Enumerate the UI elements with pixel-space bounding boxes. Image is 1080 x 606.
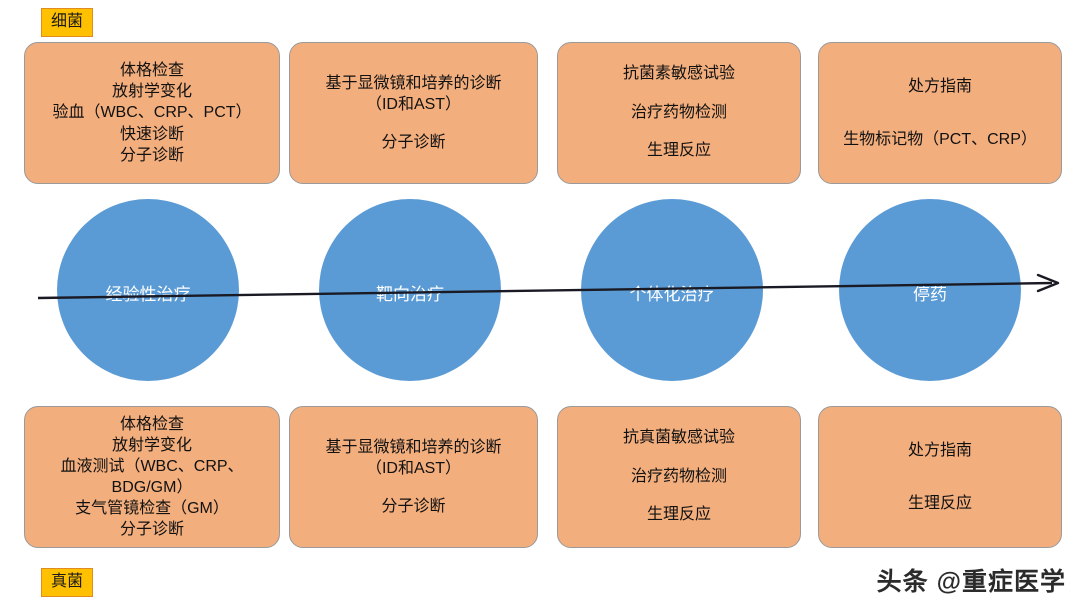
- card-line: 分子诊断: [120, 145, 184, 166]
- stage-circle-3: 个体化治疗: [581, 199, 763, 381]
- card-line: 基于显微镜和培养的诊断: [325, 437, 501, 458]
- card-line: 生理反应: [908, 493, 972, 514]
- stage-label: 经验性治疗: [106, 280, 191, 305]
- fungus-card-4: 处方指南 生理反应: [818, 406, 1062, 548]
- card-line: 体格检查: [120, 60, 184, 81]
- card-line: 验血（WBC、CRP、PCT）: [52, 102, 251, 123]
- stage-circle-4: 停药: [839, 199, 1021, 381]
- watermark: 头条 @重症医学: [877, 562, 1066, 598]
- card-line: 生物标记物（PCT、CRP）: [843, 129, 1037, 150]
- bacteria-card-1: 体格检查 放射学变化 验血（WBC、CRP、PCT） 快速诊断 分子诊断: [24, 42, 280, 184]
- fungus-card-3: 抗真菌敏感试验 治疗药物检测 生理反应: [557, 406, 801, 548]
- card-line: （ID和AST）: [366, 94, 461, 115]
- fungus-card-2: 基于显微镜和培养的诊断 （ID和AST） 分子诊断: [289, 406, 538, 548]
- stage-label: 停药: [913, 280, 947, 305]
- stage-circle-2: 靶向治疗: [319, 199, 501, 381]
- card-line: 治疗药物检测: [631, 103, 727, 124]
- card-line: 处方指南: [908, 76, 972, 97]
- card-line: 放射学变化: [112, 435, 192, 456]
- card-line: 治疗药物检测: [631, 467, 727, 488]
- card-line: 分子诊断: [120, 519, 184, 540]
- stage-circle-1: 经验性治疗: [57, 199, 239, 381]
- category-tag-bacteria: 细菌: [41, 8, 93, 37]
- bacteria-card-2: 基于显微镜和培养的诊断 （ID和AST） 分子诊断: [289, 42, 538, 184]
- card-line: 分子诊断: [381, 496, 445, 517]
- arrow-head-icon: [1038, 275, 1058, 291]
- card-line: 基于显微镜和培养的诊断: [325, 73, 501, 94]
- card-line: 抗菌素敏感试验: [623, 64, 735, 85]
- card-line: 血液测试（WBC、CRP、: [60, 456, 243, 477]
- card-line: 生理反应: [647, 505, 711, 526]
- card-line: 抗真菌敏感试验: [623, 428, 735, 449]
- bacteria-card-3: 抗菌素敏感试验 治疗药物检测 生理反应: [557, 42, 801, 184]
- card-line: 支气管镜检查（GM）: [75, 498, 229, 519]
- diagram-canvas: 细菌 真菌 体格检查 放射学变化 验血（WBC、CRP、PCT） 快速诊断 分子…: [0, 0, 1080, 606]
- card-line: 分子诊断: [381, 132, 445, 153]
- stage-label: 靶向治疗: [376, 280, 444, 305]
- card-line: 快速诊断: [120, 124, 184, 145]
- card-line: 体格检查: [120, 414, 184, 435]
- card-line: 处方指南: [908, 440, 972, 461]
- fungus-card-1: 体格检查 放射学变化 血液测试（WBC、CRP、 BDG/GM） 支气管镜检查（…: [24, 406, 280, 548]
- card-line: 生理反应: [647, 141, 711, 162]
- category-tag-fungus: 真菌: [41, 568, 93, 597]
- bacteria-card-4: 处方指南 生物标记物（PCT、CRP）: [818, 42, 1062, 184]
- card-line: （ID和AST）: [366, 458, 461, 479]
- card-line: 放射学变化: [112, 81, 192, 102]
- stage-label: 个体化治疗: [630, 280, 715, 305]
- card-line: BDG/GM）: [112, 477, 193, 498]
